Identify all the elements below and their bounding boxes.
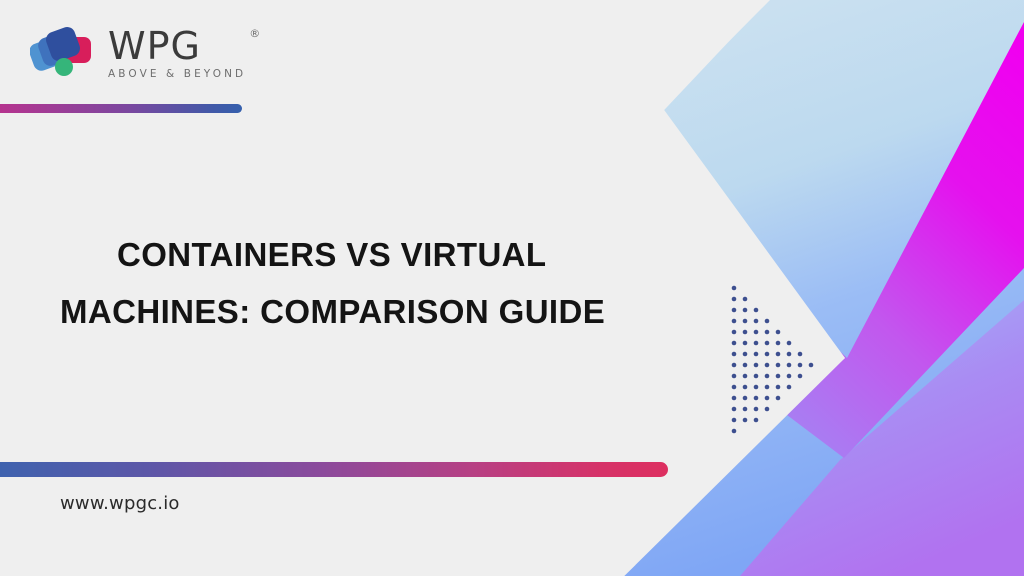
wpg-logo-mark-icon xyxy=(30,24,98,80)
registered-trademark-icon: ® xyxy=(249,27,260,40)
logo-brand-text: WPG xyxy=(108,24,201,68)
page-title-line-2: MACHINES: COMPARISON GUIDE xyxy=(60,283,680,340)
deco-grey-notch-upper xyxy=(600,0,765,176)
accent-bar-top xyxy=(0,104,242,113)
logo-tagline: ABOVE & BEYOND xyxy=(108,68,246,80)
logo-wordmark: WPG ® ABOVE & BEYOND xyxy=(108,25,246,80)
accent-bar-bottom xyxy=(0,462,668,477)
brand-logo[interactable]: WPG ® ABOVE & BEYOND xyxy=(30,24,246,80)
page-title: CONTAINERS VS VIRTUAL MACHINES: COMPARIS… xyxy=(60,226,680,340)
play-triangle-dot-pattern xyxy=(726,282,822,434)
deco-grey-notch-left xyxy=(600,0,770,232)
website-url[interactable]: www.wpgc.io xyxy=(60,493,180,514)
deco-grey-top-left xyxy=(600,0,768,178)
logo-circle-green xyxy=(55,58,73,76)
slide-canvas: WPG ® ABOVE & BEYOND CONTAINERS VS VIRTU… xyxy=(0,0,1024,576)
page-title-line-1: CONTAINERS VS VIRTUAL xyxy=(60,226,680,283)
